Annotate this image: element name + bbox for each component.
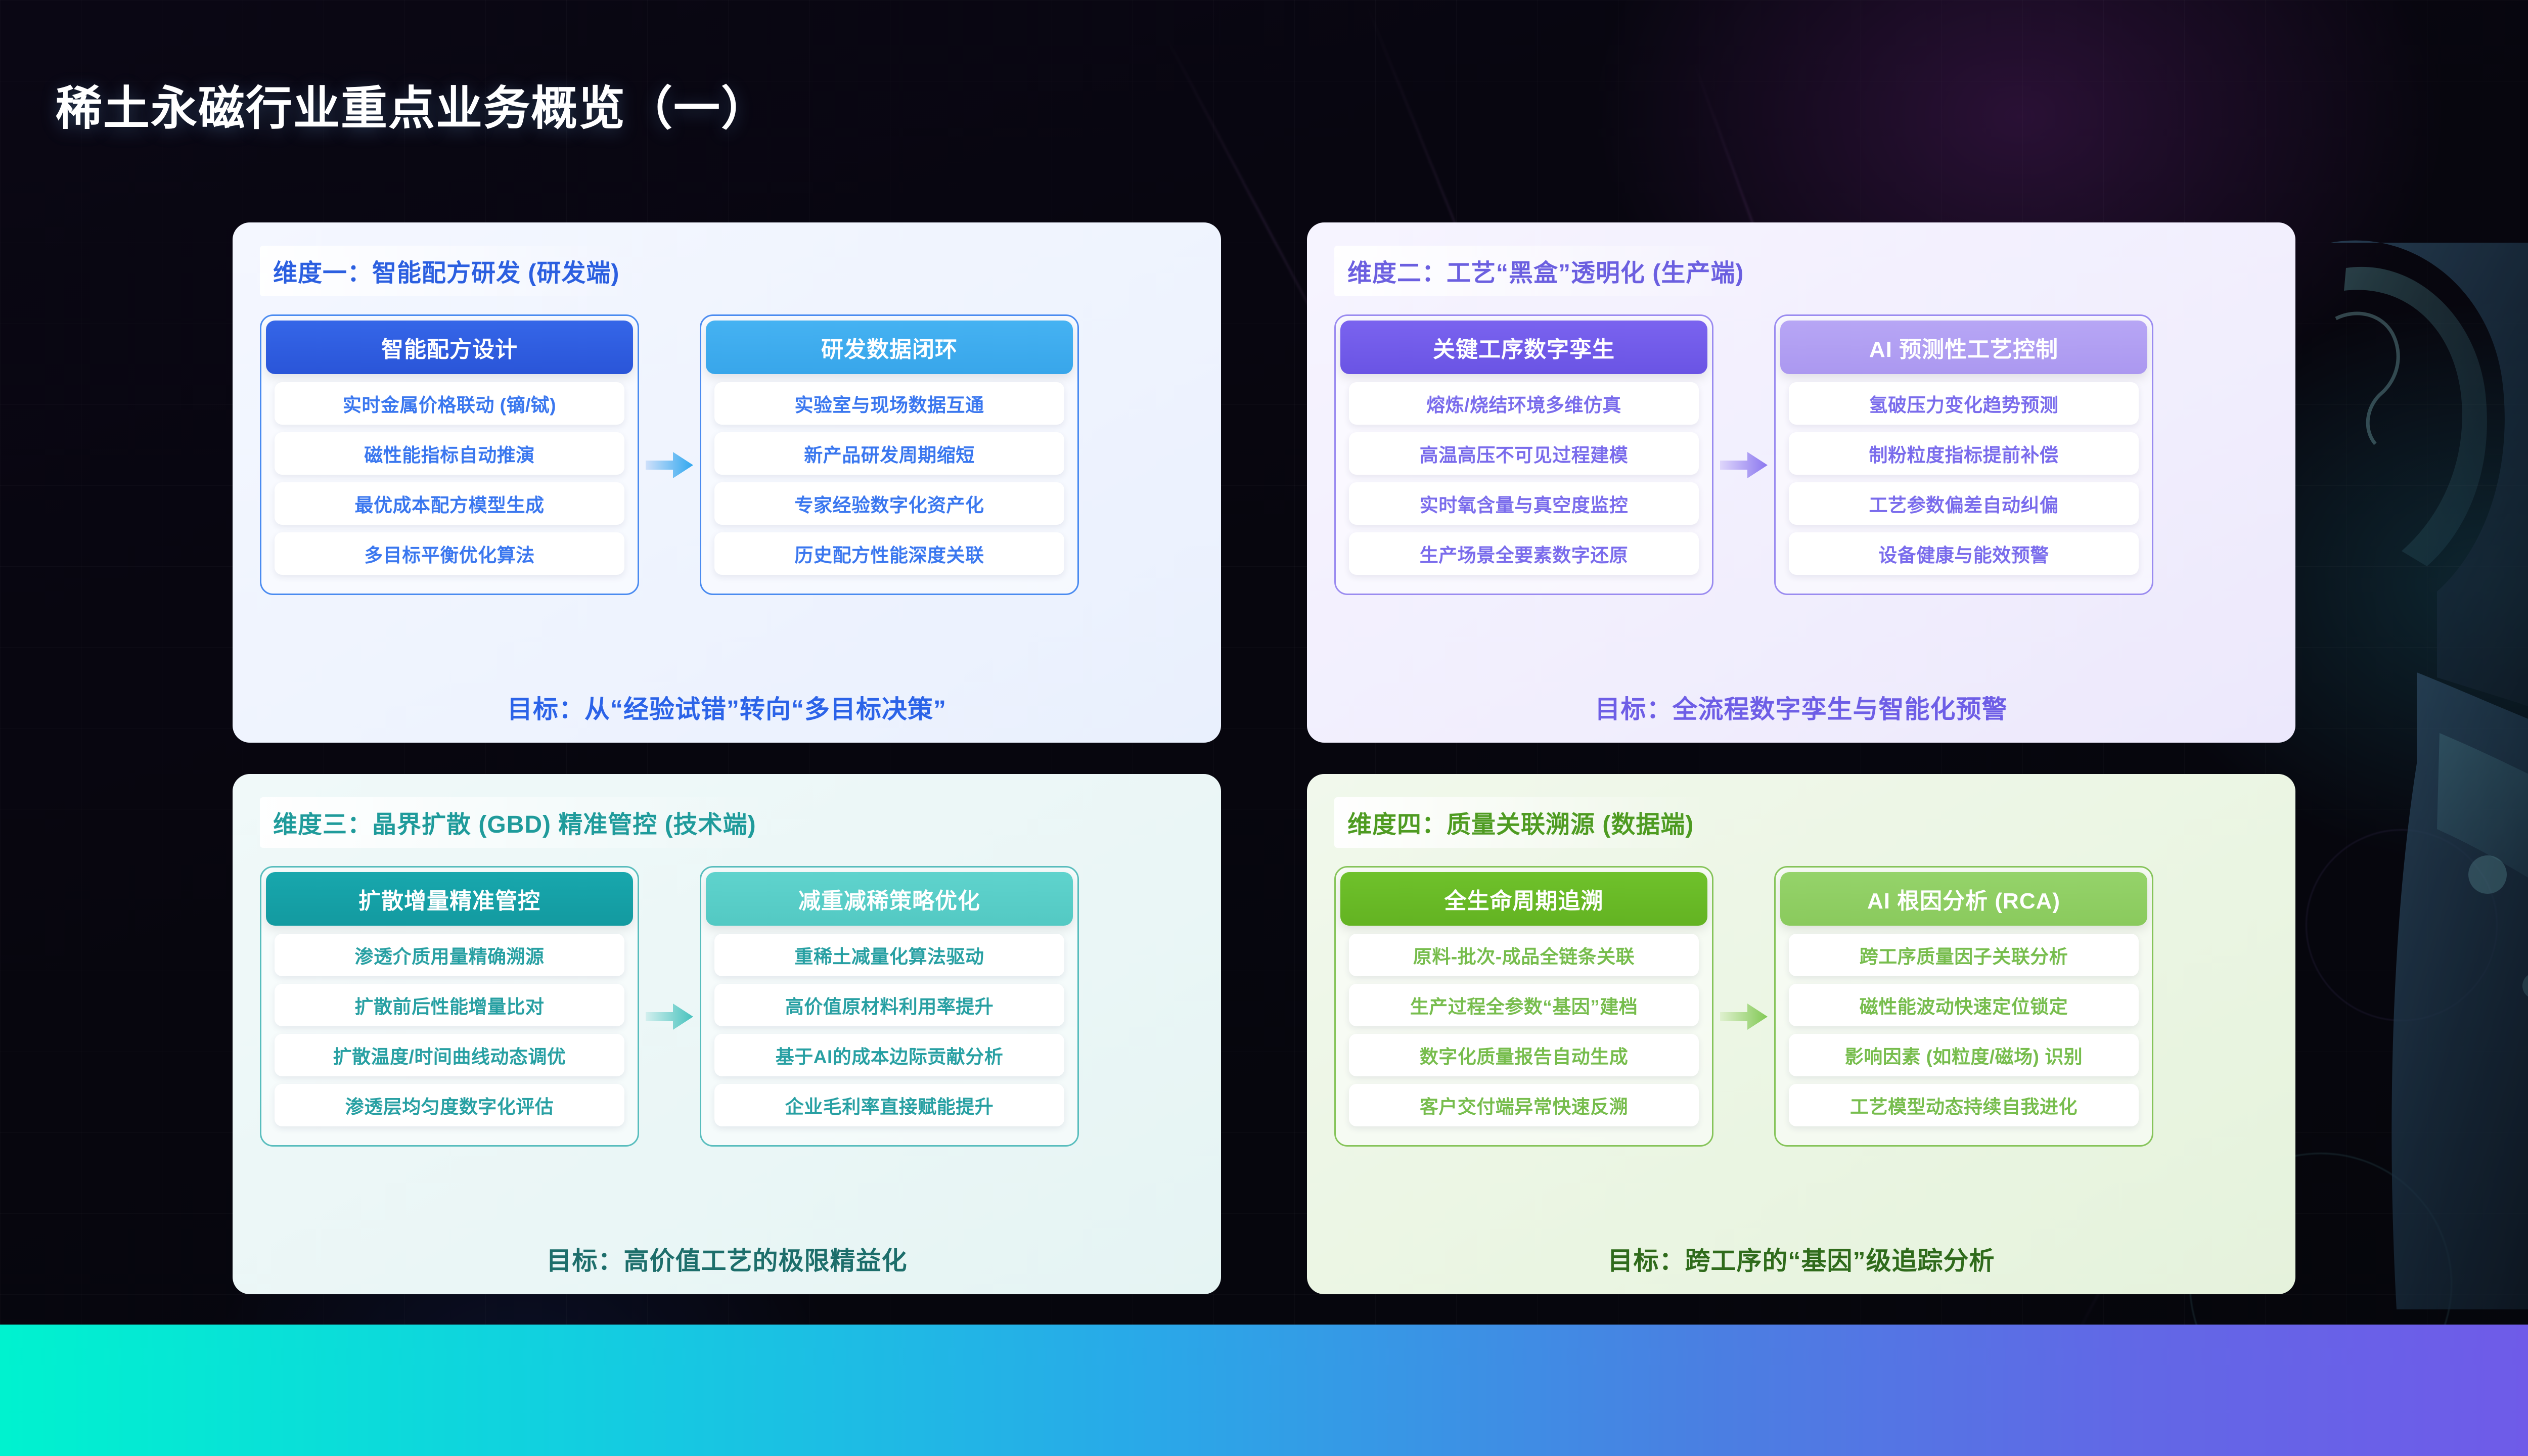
column-title: 减重减稀策略优化 <box>706 872 1073 926</box>
column-title: AI 预测性工艺控制 <box>1780 321 2147 374</box>
list-item[interactable]: 实时氧含量与真空度监控 <box>1349 482 1699 525</box>
dimension-three-header: 维度三：晶界扩散 (GBD) 精准管控 (技术端) <box>260 797 774 848</box>
list-item[interactable]: 实时金属价格联动 (镝/铽) <box>275 382 624 425</box>
dimension-card-one: 维度一：智能配方研发 (研发端) 智能配方设计 实时金属价格联动 (镝/铽) 磁… <box>233 222 1221 743</box>
dimension-card-three: 维度三：晶界扩散 (GBD) 精准管控 (技术端) 扩散增量精准管控 渗透介质用… <box>233 774 1221 1294</box>
list-item[interactable]: 扩散前后性能增量比对 <box>275 984 624 1026</box>
arrow-right-icon <box>1720 1003 1768 1031</box>
arrow-right-icon <box>1720 451 1768 479</box>
column-title: 研发数据闭环 <box>706 321 1073 374</box>
list-item[interactable]: 数字化质量报告自动生成 <box>1349 1034 1699 1076</box>
list-item[interactable]: 新产品研发周期缩短 <box>714 432 1064 475</box>
list-item[interactable]: 扩散温度/时间曲线动态调优 <box>275 1034 624 1076</box>
bottom-gradient-band <box>0 1325 2528 1456</box>
column-box: 全生命周期追溯 原料-批次-成品全链条关联 生产过程全参数“基因”建档 数字化质… <box>1334 866 1713 1147</box>
dimension-one-header: 维度一：智能配方研发 (研发端) <box>260 246 637 296</box>
dimension-card-four: 维度四：质量关联溯源 (数据端) 全生命周期追溯 原料-批次-成品全链条关联 生… <box>1307 774 2295 1294</box>
column-title: AI 根因分析 (RCA) <box>1780 872 2147 926</box>
list-item[interactable]: 历史配方性能深度关联 <box>714 532 1064 575</box>
background-glow-ring <box>2306 829 2498 1021</box>
dimension-one-columns: 智能配方设计 实时金属价格联动 (镝/铽) 磁性能指标自动推演 最优成本配方模型… <box>260 314 1194 595</box>
list-item[interactable]: 渗透介质用量精确溯源 <box>275 934 624 976</box>
column-title: 智能配方设计 <box>266 321 633 374</box>
dimension-two-goal: 目标：全流程数字孪生与智能化预警 <box>1334 672 2268 725</box>
column-box: 减重减稀策略优化 重稀土减量化算法驱动 高价值原材料利用率提升 基于AI的成本边… <box>700 866 1079 1147</box>
dimension-four-goal: 目标：跨工序的“基因”级追踪分析 <box>1334 1223 2268 1277</box>
list-item[interactable]: 重稀土减量化算法驱动 <box>714 934 1064 976</box>
list-item[interactable]: 工艺模型动态持续自我进化 <box>1789 1084 2139 1126</box>
dimension-grid: 维度一：智能配方研发 (研发端) 智能配方设计 实时金属价格联动 (镝/铽) 磁… <box>233 222 2295 1294</box>
list-item[interactable]: 最优成本配方模型生成 <box>275 482 624 525</box>
arrow-right-icon <box>646 451 693 479</box>
list-item[interactable]: 原料-批次-成品全链条关联 <box>1349 934 1699 976</box>
flow-arrow-container <box>639 1003 700 1031</box>
list-item[interactable]: 熔炼/烧结环境多维仿真 <box>1349 382 1699 425</box>
column-title: 扩散增量精准管控 <box>266 872 633 926</box>
list-item[interactable]: 磁性能指标自动推演 <box>275 432 624 475</box>
list-item[interactable]: 多目标平衡优化算法 <box>275 532 624 575</box>
dimension-one-goal: 目标：从“经验试错”转向“多目标决策” <box>260 672 1194 725</box>
list-item[interactable]: 氢破压力变化趋势预测 <box>1789 382 2139 425</box>
arrow-right-icon <box>646 1003 693 1031</box>
list-item[interactable]: 高温高压不可见过程建模 <box>1349 432 1699 475</box>
list-item[interactable]: 专家经验数字化资产化 <box>714 482 1064 525</box>
list-item[interactable]: 客户交付端异常快速反溯 <box>1349 1084 1699 1126</box>
list-item[interactable]: 生产场景全要素数字还原 <box>1349 532 1699 575</box>
list-item[interactable]: 磁性能波动快速定位锁定 <box>1789 984 2139 1026</box>
column-box: 关键工序数字孪生 熔炼/烧结环境多维仿真 高温高压不可见过程建模 实时氧含量与真… <box>1334 314 1713 595</box>
dimension-two-header: 维度二：工艺“黑盒”透明化 (生产端) <box>1334 246 1761 296</box>
list-item[interactable]: 渗透层均匀度数字化评估 <box>275 1084 624 1126</box>
flow-arrow-container <box>1713 1003 1774 1031</box>
list-item[interactable]: 企业毛利率直接赋能提升 <box>714 1084 1064 1126</box>
flow-arrow-container <box>639 451 700 479</box>
dimension-three-columns: 扩散增量精准管控 渗透介质用量精确溯源 扩散前后性能增量比对 扩散温度/时间曲线… <box>260 866 1194 1147</box>
list-item[interactable]: 基于AI的成本边际贡献分析 <box>714 1034 1064 1076</box>
list-item[interactable]: 影响因素 (如粒度/磁场) 识别 <box>1789 1034 2139 1076</box>
page-title: 稀土永磁行业重点业务概览（一） <box>56 71 769 138</box>
list-item[interactable]: 高价值原材料利用率提升 <box>714 984 1064 1026</box>
column-title: 关键工序数字孪生 <box>1340 321 1707 374</box>
dimension-two-columns: 关键工序数字孪生 熔炼/烧结环境多维仿真 高温高压不可见过程建模 实时氧含量与真… <box>1334 314 2268 595</box>
list-item[interactable]: 制粉粒度指标提前补偿 <box>1789 432 2139 475</box>
list-item[interactable]: 生产过程全参数“基因”建档 <box>1349 984 1699 1026</box>
list-item[interactable]: 设备健康与能效预警 <box>1789 532 2139 575</box>
column-box: 智能配方设计 实时金属价格联动 (镝/铽) 磁性能指标自动推演 最优成本配方模型… <box>260 314 639 595</box>
dimension-four-header: 维度四：质量关联溯源 (数据端) <box>1334 797 1711 848</box>
column-title: 全生命周期追溯 <box>1340 872 1707 926</box>
column-box: AI 根因分析 (RCA) 跨工序质量因子关联分析 磁性能波动快速定位锁定 影响… <box>1774 866 2153 1147</box>
list-item[interactable]: 工艺参数偏差自动纠偏 <box>1789 482 2139 525</box>
dimension-card-two: 维度二：工艺“黑盒”透明化 (生产端) 关键工序数字孪生 熔炼/烧结环境多维仿真… <box>1307 222 2295 743</box>
flow-arrow-container <box>1713 451 1774 479</box>
column-box: 扩散增量精准管控 渗透介质用量精确溯源 扩散前后性能增量比对 扩散温度/时间曲线… <box>260 866 639 1147</box>
column-box: AI 预测性工艺控制 氢破压力变化趋势预测 制粉粒度指标提前补偿 工艺参数偏差自… <box>1774 314 2153 595</box>
dimension-three-goal: 目标：高价值工艺的极限精益化 <box>260 1223 1194 1277</box>
list-item[interactable]: 实验室与现场数据互通 <box>714 382 1064 425</box>
dimension-four-columns: 全生命周期追溯 原料-批次-成品全链条关联 生产过程全参数“基因”建档 数字化质… <box>1334 866 2268 1147</box>
column-box: 研发数据闭环 实验室与现场数据互通 新产品研发周期缩短 专家经验数字化资产化 历… <box>700 314 1079 595</box>
list-item[interactable]: 跨工序质量因子关联分析 <box>1789 934 2139 976</box>
